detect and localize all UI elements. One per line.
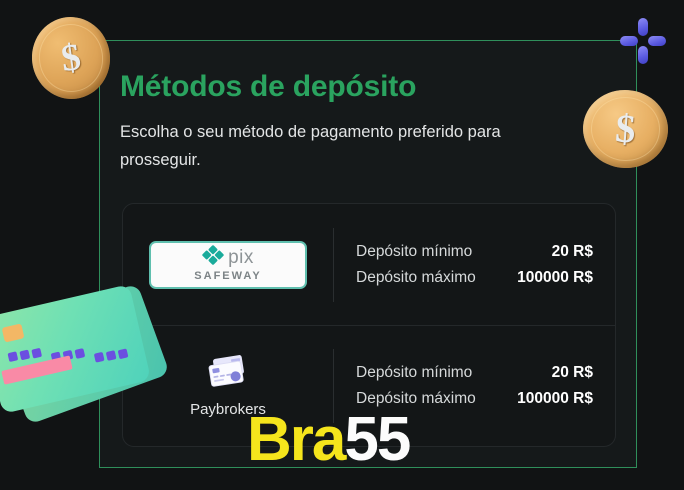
pix-max-deposit-line: Depósito máximo 100000 R$	[356, 265, 593, 291]
bank-card-icon	[204, 354, 252, 392]
brand-watermark: Bra55	[247, 409, 409, 471]
pix-diamond-icon	[202, 245, 224, 270]
card-dot	[106, 350, 117, 361]
pix-min-deposit-line: Depósito mínimo 20 R$	[356, 239, 593, 265]
card-dot	[74, 348, 85, 359]
credit-card-front	[0, 284, 151, 414]
card-dot	[7, 351, 18, 362]
page-title: Métodos de depósito	[120, 70, 416, 104]
pix-max-deposit-label: Depósito máximo	[356, 265, 476, 291]
card-dot	[31, 348, 42, 359]
plus-bar-left	[620, 36, 638, 46]
pix-logo-top: pix	[202, 247, 254, 269]
payment-method-row-pix[interactable]: pix SAFEWAY Depósito mínimo 20 R$ Depósi…	[123, 204, 615, 325]
card-dot	[94, 352, 105, 363]
pix-min-deposit-label: Depósito mínimo	[356, 239, 472, 265]
plus-bar-bottom	[638, 46, 648, 64]
pix-safeway-logo: pix SAFEWAY	[149, 241, 307, 289]
page-subtitle: Escolha o seu método de pagamento prefer…	[120, 118, 570, 174]
pix-safeway-label: SAFEWAY	[194, 270, 261, 283]
brand-watermark-part-b: 55	[344, 405, 409, 474]
deposit-methods-screen: Métodos de depósito Escolha o seu método…	[0, 0, 684, 490]
paybrokers-min-deposit-line: Depósito mínimo 20 R$	[356, 360, 593, 386]
plus-bar-right	[648, 36, 666, 46]
pix-wordmark: pix	[228, 248, 254, 267]
pix-limits: Depósito mínimo 20 R$ Depósito máximo 10…	[334, 204, 615, 325]
credit-cards-illustration	[0, 284, 176, 414]
card-chip-icon	[2, 323, 25, 342]
paybrokers-min-deposit-value: 20 R$	[552, 360, 593, 386]
card-dot	[118, 348, 129, 359]
plus-bar-top	[638, 18, 648, 36]
paybrokers-min-deposit-label: Depósito mínimo	[356, 360, 472, 386]
coin-dollar-sign: $	[614, 108, 637, 149]
paybrokers-max-deposit-value: 100000 R$	[517, 386, 593, 412]
pix-max-deposit-value: 100000 R$	[517, 265, 593, 291]
pix-min-deposit-value: 20 R$	[552, 239, 593, 265]
brand-watermark-part-a: Bra	[247, 405, 344, 474]
plus-sparkle-icon	[620, 18, 666, 64]
card-dot	[19, 350, 30, 361]
